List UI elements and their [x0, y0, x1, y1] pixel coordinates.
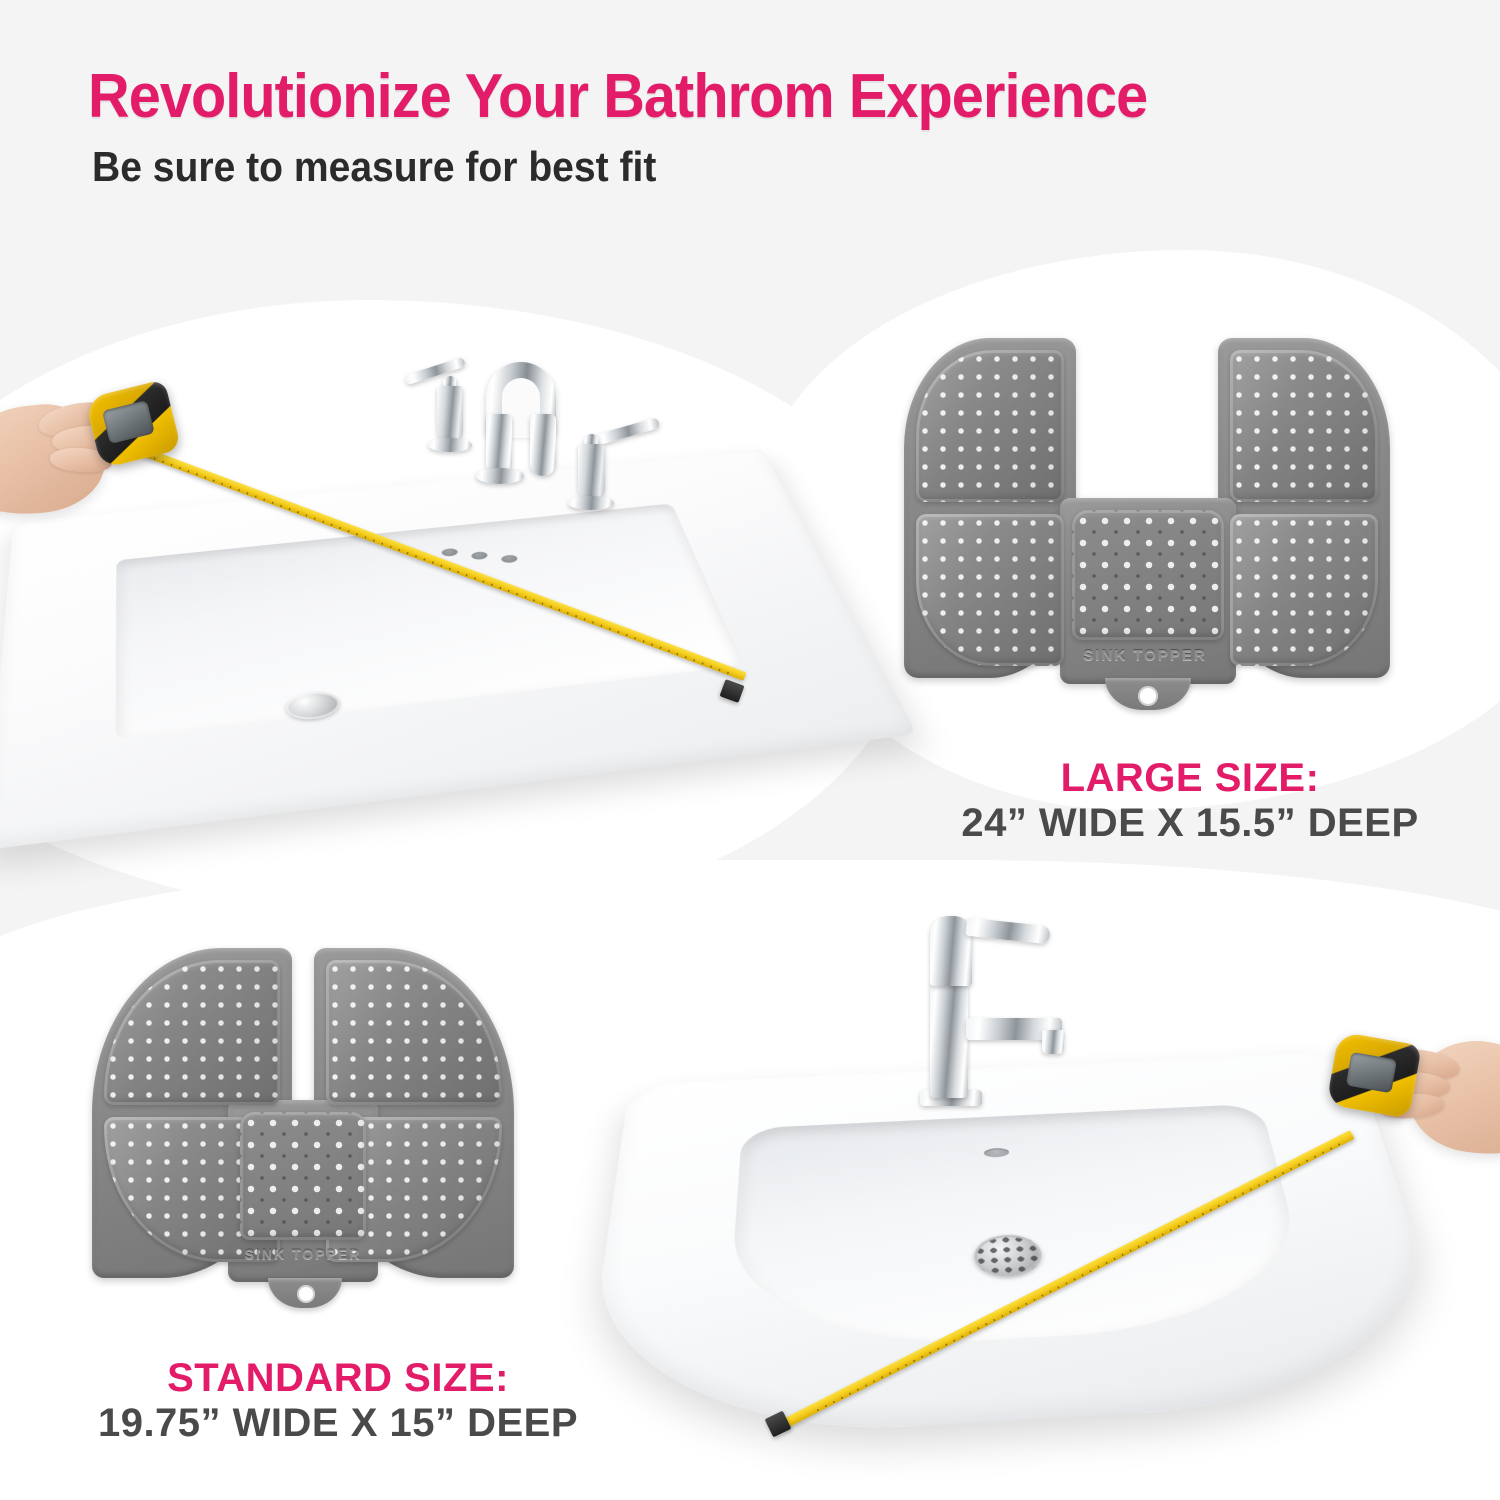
- faucet-aerator: [1042, 1030, 1064, 1054]
- mat-standard-hang-hole: [297, 1285, 315, 1303]
- sink-basin-body: [0, 448, 917, 850]
- caption-large-dims: 24” WIDE X 15.5” DEEP: [961, 801, 1418, 846]
- mat-large-hang-hole: [1138, 686, 1158, 706]
- round-sink-basin: [726, 1104, 1318, 1355]
- product-mat-large: SINK TOPPER: [900, 334, 1390, 734]
- mat-large-center-pad: [1072, 510, 1224, 640]
- caption-standard-size: STANDARD SIZE: 19.75” WIDE X 15” DEEP: [98, 1356, 578, 1446]
- photo-round-sink: [590, 890, 1500, 1500]
- photo-rectangular-sink: [0, 330, 900, 860]
- page-subtitle: Be sure to measure for best fit: [92, 146, 656, 188]
- mat-standard-panel-top-left: [104, 960, 280, 1105]
- mat-standard-panel-top-right: [326, 960, 502, 1105]
- faucet-lever-handle: [965, 918, 1050, 945]
- mat-standard-center-pad: [240, 1112, 366, 1240]
- round-tape-measure-body: [1326, 1031, 1422, 1118]
- round-sink-body: [577, 1050, 1468, 1445]
- infographic-canvas: Revolutionize Your Bathrom Experience Be…: [0, 0, 1500, 1500]
- round-tape-measure-window: [1346, 1052, 1397, 1093]
- caption-standard-title: STANDARD SIZE:: [98, 1356, 578, 1401]
- caption-standard-dims: 19.75” WIDE X 15” DEEP: [98, 1401, 578, 1446]
- caption-large-size: LARGE SIZE: 24” WIDE X 15.5” DEEP: [961, 756, 1418, 846]
- faucet-column: [930, 982, 968, 1098]
- tape-measure-window: [102, 400, 155, 444]
- sink-basin-well: [116, 503, 744, 738]
- caption-large-title: LARGE SIZE:: [961, 756, 1418, 801]
- page-title: Revolutionize Your Bathrom Experience: [88, 66, 1147, 128]
- product-mat-standard: SINK TOPPER: [88, 940, 518, 1330]
